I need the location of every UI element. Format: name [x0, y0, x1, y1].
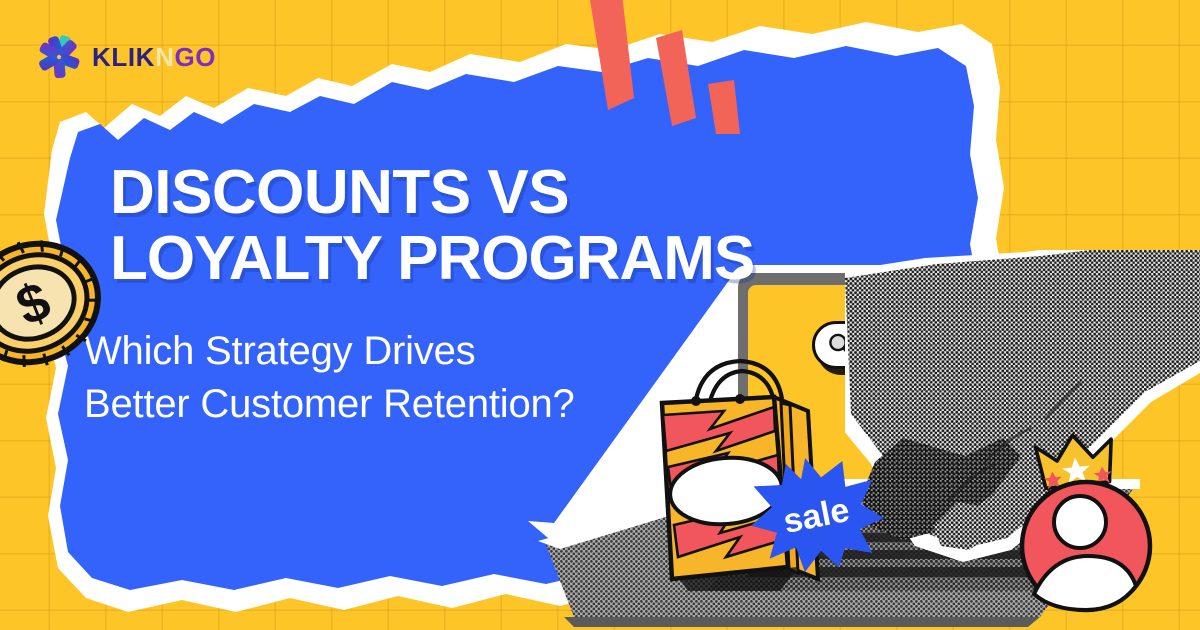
brand-wordmark-klik: KLIK — [92, 42, 155, 72]
headline-line-2: LOYALTY PROGRAMS — [110, 226, 790, 292]
brand-wordmark-go: GO — [174, 42, 216, 72]
subhead-line-2: Better Customer Retention? — [84, 378, 790, 431]
subhead-line-1: Which Strategy Drives — [84, 325, 790, 378]
brand-wordmark: KLIKNGO — [92, 42, 216, 73]
sale-badge: sale — [748, 455, 884, 573]
banner-canvas: $ — [0, 0, 1200, 630]
emphasis-strokes-icon — [560, 0, 740, 134]
brand-logo[interactable]: KLIKNGO — [34, 32, 216, 82]
copy-block: DISCOUNTS VS LOYALTY PROGRAMS Which Stra… — [110, 160, 790, 431]
page-title: DISCOUNTS VS LOYALTY PROGRAMS — [110, 160, 790, 291]
brand-wordmark-n: N — [155, 42, 174, 72]
page-subtitle: Which Strategy Drives Better Customer Re… — [84, 325, 790, 431]
dollar-coin-icon: $ — [0, 228, 108, 378]
user-avatar-icon — [1008, 428, 1168, 618]
headline-line-1: DISCOUNTS VS — [110, 160, 790, 226]
pinwheel-asterisk-logo-mark — [34, 32, 84, 82]
